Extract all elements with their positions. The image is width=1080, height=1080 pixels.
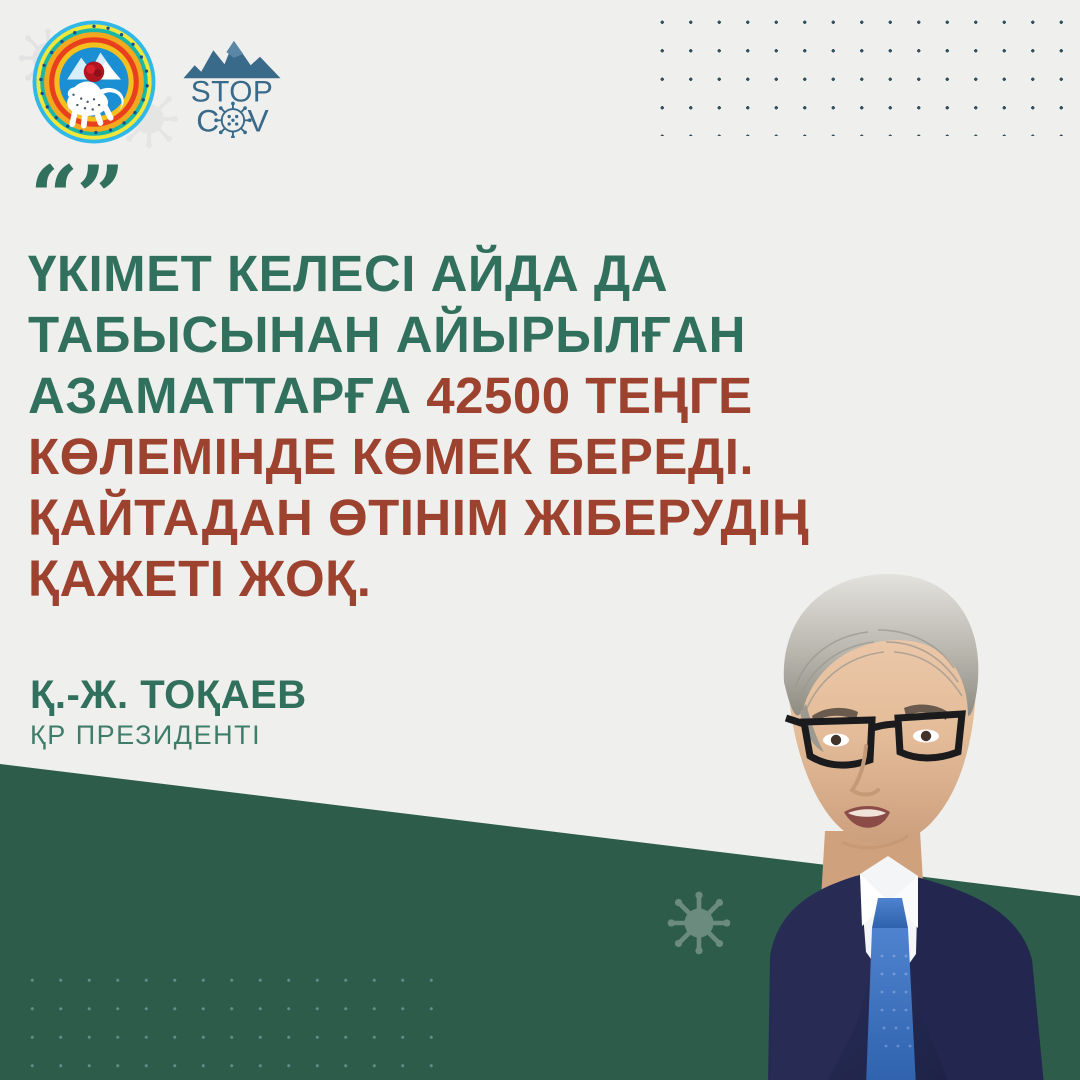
president-tokayev-photo bbox=[620, 556, 1080, 1080]
header-logos: ALMATY STOP C V bbox=[30, 18, 288, 146]
quote-segment: ҚАЙТАДАН ӨТІНІМ ЖІБЕРУДІҢ bbox=[28, 489, 809, 546]
quote-segment: ҚАЖЕТІ ЖОҚ. bbox=[28, 550, 371, 607]
quote-line: КӨЛЕМІНДЕ КӨМЕК БЕРЕДІ. bbox=[28, 426, 948, 487]
speaker-name: Қ.-Ж. ТОҚАЕВ bbox=[30, 672, 307, 718]
speaker-role: ҚР ПРЕЗИДЕНТІ bbox=[30, 718, 307, 752]
quote-line: АЗАМАТТАРҒА 42500 ТЕҢГЕ bbox=[28, 365, 948, 426]
quote-segment: ҮКІМЕТ КЕЛЕСІ АЙДА ДА bbox=[28, 245, 668, 302]
quote-segment-amount: 42500 ТЕҢГЕ bbox=[426, 367, 752, 424]
quote-mark-decoration: “” bbox=[30, 163, 123, 230]
almaty-stop-cov-logo: ALMATY STOP C V bbox=[176, 26, 288, 138]
quote-card: ALMATY STOP C V bbox=[0, 0, 1080, 1080]
almaty-city-emblem bbox=[30, 18, 158, 146]
quote-segment: АЗАМАТТАРҒА bbox=[28, 367, 426, 424]
attribution-block: Қ.-Ж. ТОҚАЕВ ҚР ПРЕЗИДЕНТІ bbox=[30, 672, 307, 752]
quote-segment: ТАБЫСЫНАН АЙЫРЫЛҒАН bbox=[28, 306, 746, 363]
dot-grid-green bbox=[18, 966, 438, 1080]
quote-line: ҮКІМЕТ КЕЛЕСІ АЙДА ДА bbox=[28, 243, 948, 304]
virus-icon bbox=[214, 102, 251, 138]
quote-line: ТАБЫСЫНАН АЙЫРЫЛҒАН bbox=[28, 304, 948, 365]
quote-segment: КӨЛЕМІНДЕ КӨМЕК БЕРЕДІ. bbox=[28, 428, 754, 485]
quote-line: ҚАЙТАДАН ӨТІНІМ ЖІБЕРУДІҢ bbox=[28, 487, 948, 548]
quote-text-block: ҮКІМЕТ КЕЛЕСІ АЙДА ДА ТАБЫСЫНАН АЙЫРЫЛҒА… bbox=[28, 243, 948, 609]
dot-grid-topright bbox=[648, 8, 1080, 136]
